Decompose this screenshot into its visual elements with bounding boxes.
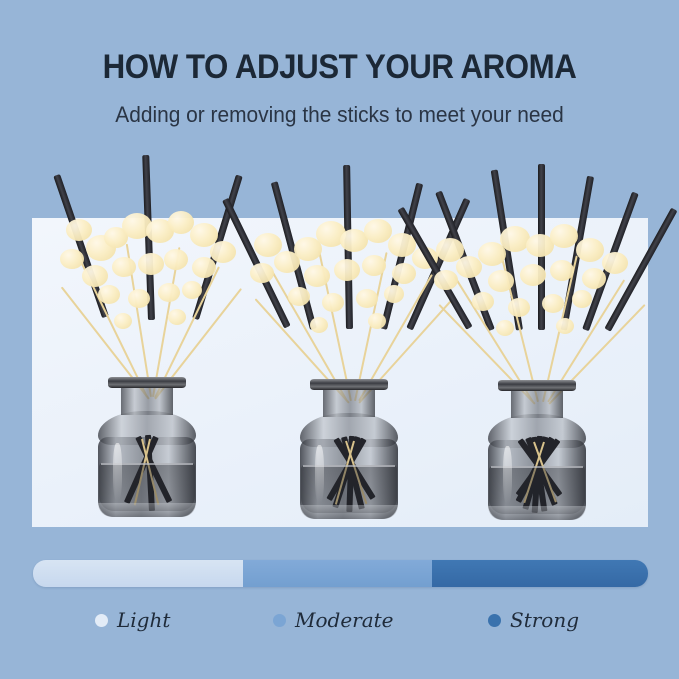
strong-diffuser (432, 160, 642, 520)
dried-flower (472, 292, 494, 311)
legend-item-strong: Strong (488, 608, 579, 632)
dried-flower (304, 265, 330, 287)
dried-flower (456, 256, 482, 278)
dried-flower (112, 257, 136, 277)
dried-flower (138, 253, 164, 275)
bottle-collar (498, 380, 576, 391)
dried-flower (542, 294, 564, 313)
legend-dot-icon (95, 614, 108, 627)
light-diffuser (42, 157, 252, 517)
dried-flower (158, 283, 180, 302)
dried-flower (66, 219, 92, 241)
dried-flower (60, 249, 84, 269)
dried-flower (550, 260, 574, 281)
glass-highlight (113, 443, 122, 501)
intensity-gradient-bar (33, 560, 648, 587)
legend-dot-icon (488, 614, 501, 627)
dried-flower (98, 285, 120, 304)
glass-highlight (315, 445, 324, 503)
dried-flower (550, 224, 578, 248)
product-photo-panel (32, 218, 648, 527)
dried-flower (356, 289, 378, 308)
page-title: HOW TO ADJUST YOUR AROMA (27, 48, 652, 87)
bottle-neck (323, 389, 375, 417)
dried-flower (508, 298, 530, 317)
header: HOW TO ADJUST YOUR AROMA Adding or remov… (0, 0, 679, 128)
diffuser-bottle (297, 379, 401, 519)
intensity-legend: Light Moderate Strong (33, 608, 648, 646)
bottle-base-band (488, 506, 586, 520)
dried-flower (114, 313, 132, 329)
bottle-base-band (300, 505, 398, 519)
dried-flower (392, 263, 416, 284)
dried-flower (520, 264, 546, 286)
dried-flower (334, 259, 360, 281)
dried-flower (368, 313, 386, 329)
dried-flower (602, 252, 628, 274)
bottle-collar (108, 377, 186, 388)
diffuser-bottle (485, 380, 589, 520)
dried-flower (168, 309, 186, 325)
dried-flower (288, 287, 310, 306)
legend-label: Light (117, 608, 170, 632)
dried-flower (164, 249, 188, 270)
dried-flower (496, 320, 514, 336)
diffuser-bottle (95, 377, 199, 517)
dried-flower (576, 238, 604, 262)
dried-flower (488, 270, 514, 292)
intensity-segment-strong (432, 560, 648, 587)
legend-dot-icon (273, 614, 286, 627)
dried-flower (310, 317, 328, 333)
bottle-neck (121, 387, 173, 415)
dried-flower (556, 318, 574, 334)
dried-flower (250, 263, 274, 283)
bottle-collar (310, 379, 388, 390)
legend-label: Strong (510, 608, 579, 632)
glass-highlight (503, 446, 512, 504)
dried-flower (82, 265, 108, 287)
intensity-segment-light (33, 560, 243, 587)
dried-flower (362, 255, 386, 276)
dried-flower (384, 285, 404, 303)
dried-flower (128, 289, 150, 308)
dried-flower (364, 219, 392, 243)
page-subtitle: Adding or removing the sticks to meet yo… (17, 102, 662, 128)
dried-flower (322, 293, 344, 312)
dried-flower (434, 270, 458, 290)
legend-label: Moderate (295, 608, 394, 632)
legend-item-light: Light (95, 608, 170, 632)
intensity-segment-moderate (243, 560, 432, 587)
dried-flower (582, 268, 606, 289)
dried-flower (182, 281, 202, 299)
moderate-diffuser (244, 159, 454, 519)
bottle-neck (511, 390, 563, 418)
dried-flower (210, 241, 236, 263)
bottle-base-band (98, 503, 196, 517)
legend-item-moderate: Moderate (273, 608, 394, 632)
dried-flower (572, 290, 592, 308)
dried-flower (192, 257, 216, 278)
